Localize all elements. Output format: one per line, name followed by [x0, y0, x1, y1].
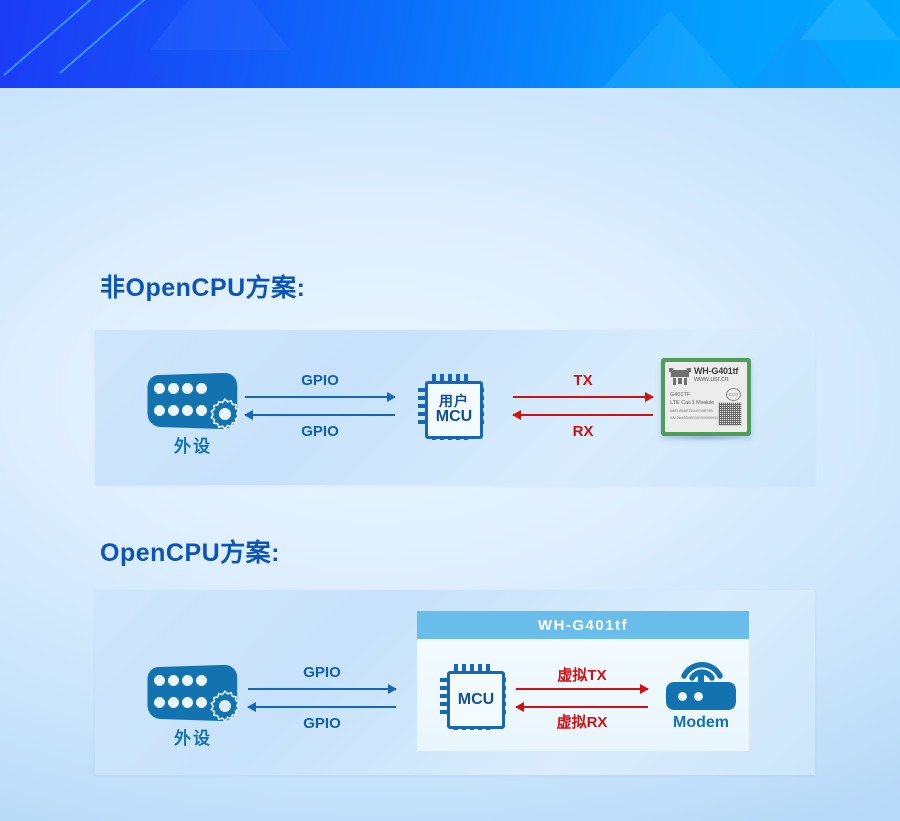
gpio-label-bottom: GPIO [245, 423, 395, 440]
arrow-line-right [248, 688, 396, 690]
banner-triangle-5 [800, 0, 900, 40]
arrow-line-right [245, 396, 395, 398]
module-shadow [663, 434, 749, 441]
section-2-heading: OpenCPU方案: [100, 533, 280, 569]
module-url: www.usr.cn [694, 376, 728, 383]
arrowhead-right-icon [640, 684, 649, 694]
virtual-rx-label: 虚拟RX [516, 711, 648, 732]
arrowhead-left-icon [247, 702, 256, 712]
arrowhead-right-icon [645, 392, 654, 402]
ccc-cert-icon: CCC [726, 388, 741, 401]
module-description: LTE Cat-1 Module [670, 400, 714, 406]
arrowhead-right-icon [388, 684, 397, 694]
chip-body: MCU [447, 671, 505, 729]
section-1-heading: 非OpenCPU方案: [100, 268, 306, 304]
arrowhead-left-icon [244, 410, 253, 420]
virtual-tx-label: 虚拟TX [516, 664, 648, 685]
usr-logo-icon [669, 367, 691, 387]
chip-body: 用户 MCU [425, 381, 483, 439]
product-diagram-page: 非OpenCPU方案: 外设 GPIO GPIO [0, 0, 900, 821]
gpio-label-top: GPIO [245, 372, 395, 389]
top-banner [0, 0, 900, 88]
peripheral-label: 外设 [145, 724, 241, 749]
chip-label-line2: MCU [436, 409, 472, 426]
modem-body-icon [666, 682, 736, 710]
gpio-bus-2: GPIO GPIO [248, 664, 396, 732]
peripheral-label: 外设 [145, 432, 241, 457]
gpio-bus-1: GPIO GPIO [245, 372, 395, 440]
qr-code-icon [718, 402, 742, 426]
arrow-line-right [516, 688, 648, 690]
uart-bus-1: TX RX [513, 372, 653, 440]
arrowhead-left-icon [512, 410, 521, 420]
peripheral-device-1: 外设 [145, 370, 255, 456]
module-brand: WH-G401tf [694, 366, 738, 376]
chip-label-line1: 用户 [439, 394, 469, 409]
arrow-line-left [248, 706, 396, 708]
gear-icon [207, 396, 243, 432]
arrow-line-left [245, 414, 395, 416]
arrow-line-right [513, 396, 653, 398]
opencpu-box-title-bar: WH-G401tf [417, 611, 749, 639]
gpio-label-bottom: GPIO [248, 715, 396, 732]
modem-label: Modem [660, 714, 742, 732]
virtual-uart-bus: 虚拟TX 虚拟RX [516, 664, 648, 732]
module-face: WH-G401tf www.usr.cn CCC G401TF LTE Cat-… [665, 362, 747, 432]
wh-g401tf-module-photo: WH-G401tf www.usr.cn CCC G401TF LTE Cat-… [661, 358, 751, 436]
rx-label: RX [513, 423, 653, 440]
user-mcu-chip: 用户 MCU [418, 374, 484, 440]
opencpu-box-title: WH-G401tf [538, 617, 628, 634]
chip-label-line2: MCU [458, 692, 494, 709]
gear-icon [207, 688, 243, 724]
modem-device: Modem [660, 650, 742, 734]
gpio-label-top: GPIO [248, 664, 396, 681]
arrow-line-left [513, 414, 653, 416]
peripheral-device-2: 外设 [145, 662, 255, 748]
module-imei: IMEI:868231047398706 [670, 408, 713, 413]
module-sn: SN:0b4034203013900001015 [670, 415, 723, 420]
opencpu-mcu-chip: MCU [440, 664, 506, 730]
arrow-line-left [516, 706, 648, 708]
tx-label: TX [513, 372, 653, 389]
module-part-number: G401TF [670, 392, 690, 398]
arrowhead-right-icon [387, 392, 396, 402]
